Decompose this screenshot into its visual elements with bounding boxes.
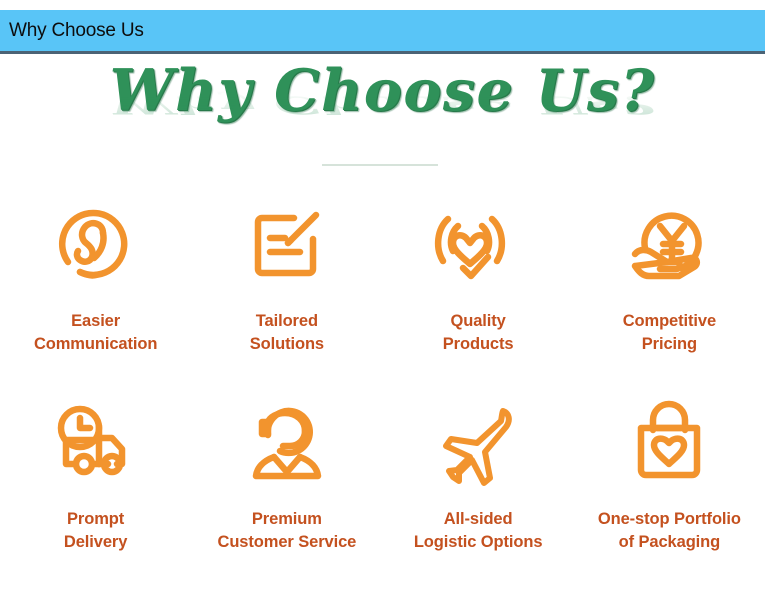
feature-label: Easier Communication <box>34 310 157 356</box>
feature-item-easier-communication[interactable]: Easier Communication <box>0 196 191 356</box>
shopping-bag-heart-icon <box>619 394 719 494</box>
feature-item-one-stop-portfolio-of-packaging[interactable]: One-stop Portfolio of Packaging <box>574 394 765 554</box>
feature-label: Quality Products <box>443 310 514 356</box>
hand-yen-coin-icon <box>619 196 719 296</box>
feature-label: Tailored Solutions <box>250 310 324 356</box>
feature-row-1: Easier Communication Tailored Solutions <box>0 196 765 356</box>
feature-item-all-sided-logistic-options[interactable]: All-sided Logistic Options <box>383 394 574 554</box>
page-heading: Why Choose Us? <box>0 54 765 128</box>
window-titlebar: Why Choose Us <box>0 10 765 54</box>
heading-artwork: Why Choose Us? Why Choose Us? <box>0 54 765 172</box>
airplane-icon <box>428 394 528 494</box>
window-title: Why Choose Us <box>0 21 144 40</box>
heart-signal-check-icon <box>428 196 528 296</box>
titlebar-background: Why Choose Us <box>0 10 765 51</box>
feature-label: Competitive Pricing <box>623 310 716 356</box>
feature-label: One-stop Portfolio of Packaging <box>598 508 741 554</box>
delivery-truck-clock-icon <box>46 394 146 494</box>
feature-item-quality-products[interactable]: Quality Products <box>383 196 574 356</box>
feature-grid: Easier Communication Tailored Solutions <box>0 196 765 554</box>
feature-label: All-sided Logistic Options <box>414 508 543 554</box>
heading-divider <box>322 164 438 166</box>
page-content: Why Choose Us? Why Choose Us? Easier Com… <box>0 54 765 599</box>
feature-item-competitive-pricing[interactable]: Competitive Pricing <box>574 196 765 356</box>
headset-agent-icon <box>237 394 337 494</box>
feature-item-premium-customer-service[interactable]: Premium Customer Service <box>191 394 382 554</box>
feature-item-prompt-delivery[interactable]: Prompt Delivery <box>0 394 191 554</box>
feature-label: Prompt Delivery <box>64 508 127 554</box>
feature-row-2: Prompt Delivery Premium Customer Service <box>0 394 765 554</box>
ear-in-circle-icon <box>46 196 146 296</box>
document-pencil-icon <box>237 196 337 296</box>
feature-label: Premium Customer Service <box>218 508 357 554</box>
feature-item-tailored-solutions[interactable]: Tailored Solutions <box>191 196 382 356</box>
